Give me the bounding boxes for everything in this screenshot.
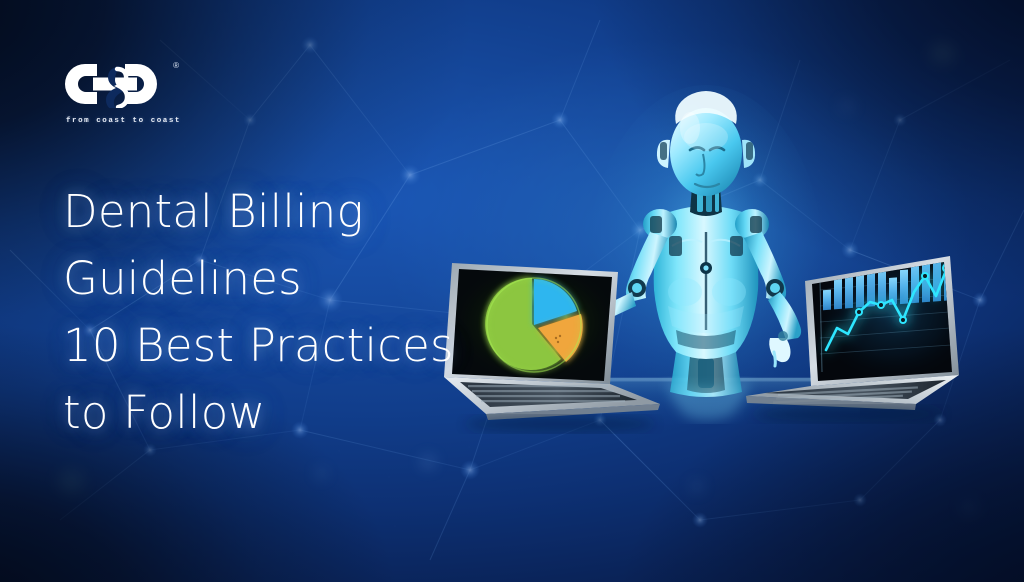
logo[interactable]: ® from coast to coast	[63, 60, 183, 125]
logo-tagline: from coast to coast	[66, 117, 183, 125]
banner-root: ® from coast to coast Dental Billing Gui…	[0, 0, 1024, 582]
headline-line-2: Guidelines	[63, 245, 533, 312]
headline-line-4: to Follow	[63, 379, 533, 446]
registered-trademark-icon: ®	[173, 62, 179, 70]
headline-line-1: Dental Billing	[63, 178, 533, 245]
headline-line-3: 10 Best Practices	[63, 312, 533, 379]
logo-mark-icon: ®	[63, 60, 167, 108]
page-title: Dental Billing Guidelines 10 Best Practi…	[63, 178, 533, 446]
